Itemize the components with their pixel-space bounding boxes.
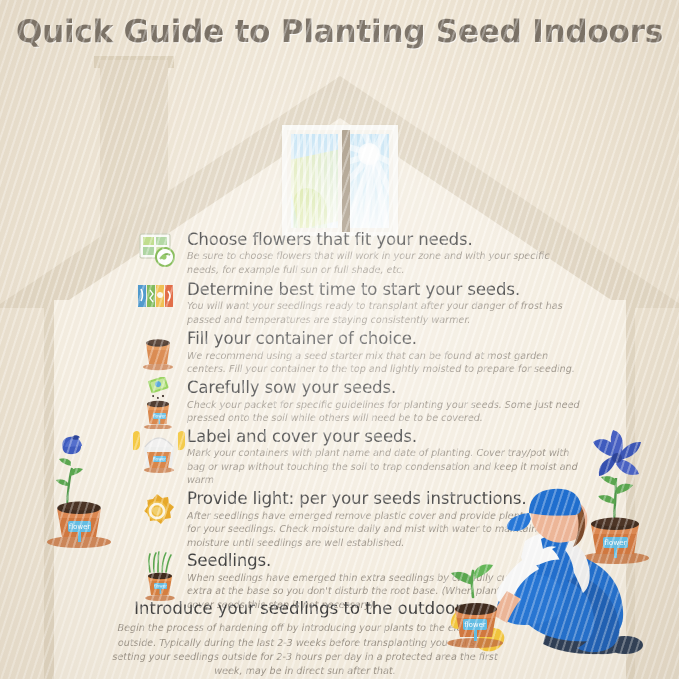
step-body: Be sure to choose flowers that will work… (187, 250, 581, 277)
window-mullion (342, 130, 350, 232)
calendar-seasons-icon (137, 283, 181, 327)
sunny-window-icon (282, 125, 398, 237)
step-body: Check your packet for specific guideline… (187, 399, 581, 426)
step-heading: Choose flowers that fit your needs. (187, 231, 581, 249)
step-heading: Label and cover your seeds. (187, 428, 581, 446)
step-item: flower Carefully sow your seeds. Check y… (137, 379, 581, 426)
gloves-covering-pot-icon: flower (131, 427, 187, 473)
step-item: Choose flowers that fit your needs. Be s… (137, 231, 581, 278)
svg-text:flower: flower (153, 456, 166, 461)
sowing-seed-packet-icon: flower (137, 377, 181, 429)
sun-light-icon (137, 492, 181, 536)
step-text: Carefully sow your seeds. Check your pac… (187, 379, 581, 426)
gardener-planting-icon: flower (429, 479, 679, 679)
step-text: Fill your container of choice. We recomm… (187, 330, 581, 377)
left-flower-pot: flower (38, 418, 134, 563)
step-body: We recommend using a seed starter mix th… (187, 350, 581, 377)
step-text: Choose flowers that fit your needs. Be s… (187, 231, 581, 278)
step-body: You will want your seedlings ready to tr… (187, 300, 581, 327)
svg-text:flower: flower (464, 621, 486, 629)
step-heading: Carefully sow your seeds. (187, 379, 581, 397)
seed-packet-selection-icon (137, 231, 181, 275)
svg-text:flower: flower (153, 414, 166, 419)
step-heading: Determine best time to start your seeds. (187, 281, 581, 299)
svg-text:flower: flower (154, 584, 167, 589)
page-title: Quick Guide to Planting Seed Indoors (0, 14, 679, 50)
step-heading: Fill your container of choice. (187, 330, 581, 348)
step-item: Determine best time to start your seeds.… (137, 281, 581, 328)
blue-flower-pot-icon: flower (38, 418, 134, 558)
window-blind-left (291, 134, 338, 228)
svg-text:flower: flower (69, 523, 91, 531)
infographic-poster: Quick Guide to Planting Seed Indoors Cho… (0, 0, 679, 679)
step-item: Fill your container of choice. We recomm… (137, 330, 581, 377)
sprouting-seedlings-pot-icon: flower (137, 546, 185, 602)
filled-pot-icon (137, 330, 181, 374)
window-pane-left (291, 134, 338, 228)
step-text: Determine best time to start your seeds.… (187, 281, 581, 328)
